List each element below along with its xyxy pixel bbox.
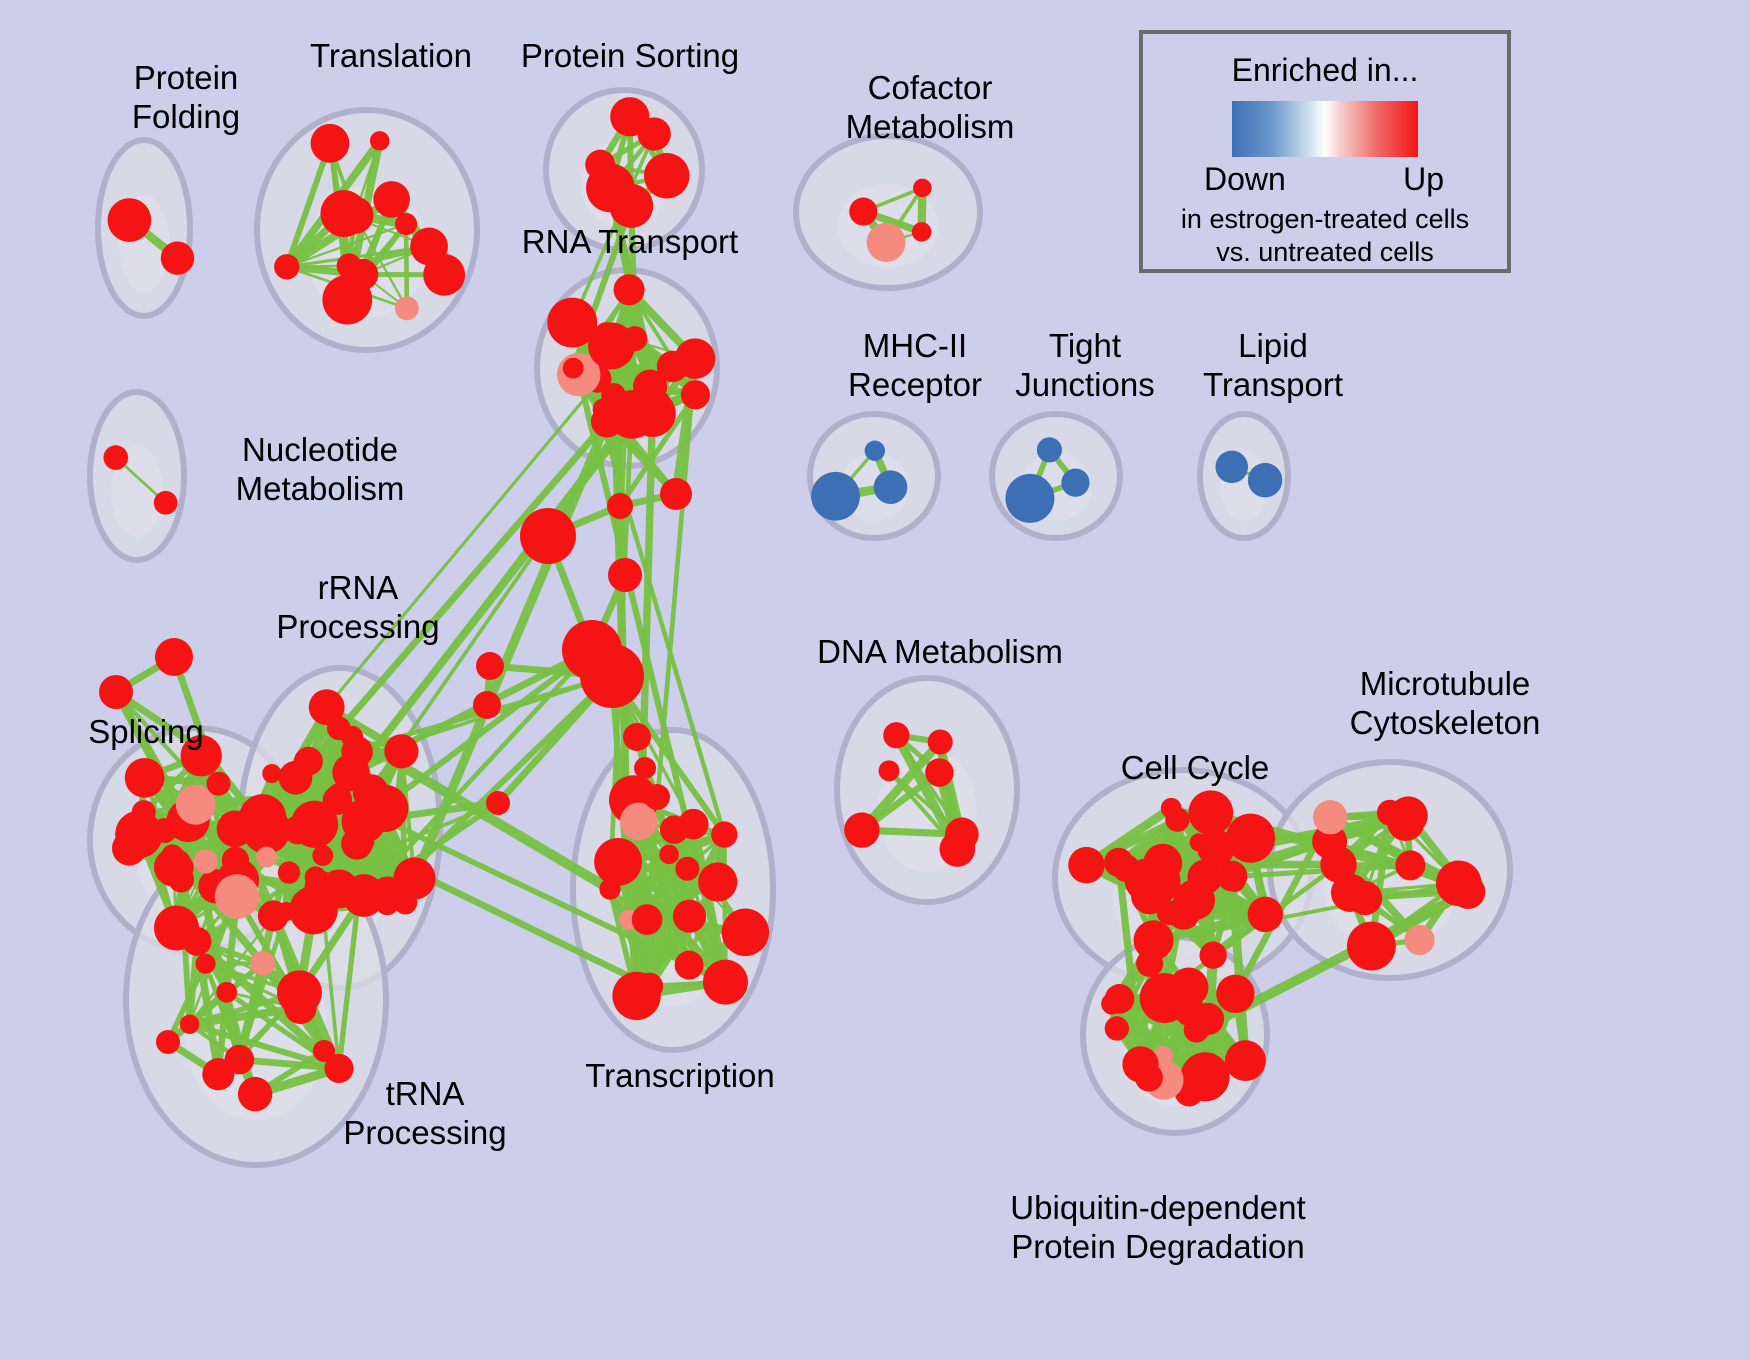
network-node[interactable] bbox=[476, 652, 504, 680]
network-node[interactable] bbox=[156, 1030, 180, 1054]
network-node[interactable] bbox=[638, 117, 671, 150]
network-node[interactable] bbox=[644, 153, 690, 199]
network-node[interactable] bbox=[580, 644, 644, 708]
network-node[interactable] bbox=[1169, 968, 1209, 1008]
network-node[interactable] bbox=[1146, 845, 1170, 869]
network-node[interactable] bbox=[324, 1054, 353, 1083]
network-node[interactable] bbox=[1313, 800, 1347, 834]
network-node[interactable] bbox=[337, 253, 362, 278]
network-node[interactable] bbox=[1387, 804, 1424, 841]
network-node[interactable] bbox=[1404, 925, 1434, 955]
network-node[interactable] bbox=[195, 741, 221, 767]
network-node[interactable] bbox=[711, 821, 737, 847]
network-node[interactable] bbox=[913, 179, 932, 198]
legend-colorbar bbox=[1232, 101, 1418, 157]
legend-box: Enriched in... Down Up in estrogen-treat… bbox=[1139, 30, 1511, 273]
network-node[interactable] bbox=[238, 1077, 272, 1111]
network-node[interactable] bbox=[657, 351, 689, 383]
network-edge-bridge bbox=[339, 387, 650, 795]
network-node[interactable] bbox=[722, 909, 769, 956]
network-node[interactable] bbox=[194, 849, 218, 873]
network-node[interactable] bbox=[274, 254, 299, 279]
network-node[interactable] bbox=[311, 124, 350, 163]
network-node[interactable] bbox=[659, 845, 679, 865]
network-node[interactable] bbox=[1061, 469, 1089, 497]
network-node[interactable] bbox=[384, 734, 418, 768]
network-node[interactable] bbox=[289, 886, 337, 934]
network-node[interactable] bbox=[1248, 897, 1283, 932]
network-node[interactable] bbox=[183, 927, 212, 956]
network-node[interactable] bbox=[1136, 950, 1163, 977]
network-node[interactable] bbox=[1068, 847, 1104, 883]
legend-endpoints: Down Up bbox=[1210, 161, 1440, 201]
network-node[interactable] bbox=[1005, 474, 1054, 523]
network-node[interactable] bbox=[1101, 993, 1122, 1014]
network-node[interactable] bbox=[206, 772, 230, 796]
network-node[interactable] bbox=[675, 857, 699, 881]
network-node[interactable] bbox=[681, 380, 710, 409]
legend-title: Enriched in... bbox=[1143, 52, 1507, 89]
network-node[interactable] bbox=[322, 275, 372, 325]
network-node[interactable] bbox=[99, 675, 133, 709]
network-node[interactable] bbox=[928, 729, 953, 754]
network-node[interactable] bbox=[593, 398, 614, 419]
network-node[interactable] bbox=[563, 358, 584, 379]
network-node[interactable] bbox=[1122, 1046, 1158, 1082]
network-node[interactable] bbox=[473, 691, 501, 719]
network-node[interactable] bbox=[256, 847, 277, 868]
network-node[interactable] bbox=[634, 757, 656, 779]
network-node[interactable] bbox=[132, 800, 156, 824]
network-node[interactable] bbox=[1248, 463, 1282, 497]
network-node[interactable] bbox=[305, 866, 327, 888]
network-node[interactable] bbox=[155, 638, 193, 676]
network-node[interactable] bbox=[594, 838, 642, 886]
network-node[interactable] bbox=[865, 441, 885, 461]
network-node[interactable] bbox=[1104, 848, 1133, 877]
network-node[interactable] bbox=[849, 198, 877, 226]
legend-down-label: Down bbox=[1204, 161, 1286, 198]
network-node[interactable] bbox=[278, 861, 300, 883]
network-node[interactable] bbox=[370, 131, 389, 150]
network-node[interactable] bbox=[1199, 942, 1226, 969]
network-node[interactable] bbox=[1165, 807, 1189, 831]
network-node[interactable] bbox=[811, 472, 860, 521]
network-node[interactable] bbox=[1215, 451, 1248, 484]
network-node[interactable] bbox=[222, 847, 249, 874]
network-node[interactable] bbox=[250, 951, 275, 976]
network-node[interactable] bbox=[161, 241, 194, 274]
network-node[interactable] bbox=[1451, 875, 1485, 909]
network-node[interactable] bbox=[1184, 1017, 1210, 1043]
network-node[interactable] bbox=[312, 845, 333, 866]
network-node[interactable] bbox=[336, 196, 373, 233]
network-node[interactable] bbox=[215, 874, 259, 918]
network-node[interactable] bbox=[612, 972, 660, 1020]
network-node[interactable] bbox=[673, 900, 706, 933]
network-node[interactable] bbox=[154, 491, 178, 515]
network-node[interactable] bbox=[879, 760, 900, 781]
network-node[interactable] bbox=[262, 764, 281, 783]
network-node[interactable] bbox=[341, 828, 373, 860]
legend-up-label: Up bbox=[1403, 161, 1444, 198]
network-node[interactable] bbox=[225, 1045, 255, 1075]
network-node[interactable] bbox=[940, 831, 976, 867]
network-node[interactable] bbox=[239, 794, 287, 842]
network-node[interactable] bbox=[1216, 975, 1254, 1013]
network-node[interactable] bbox=[103, 445, 128, 470]
network-node[interactable] bbox=[361, 785, 408, 832]
network-node[interactable] bbox=[867, 223, 906, 262]
network-node[interactable] bbox=[912, 222, 932, 242]
network-node[interactable] bbox=[216, 982, 237, 1003]
network-node[interactable] bbox=[108, 198, 152, 242]
network-node[interactable] bbox=[180, 1015, 199, 1034]
network-node[interactable] bbox=[1395, 850, 1425, 880]
network-node[interactable] bbox=[883, 722, 909, 748]
network-node[interactable] bbox=[607, 493, 633, 519]
network-node[interactable] bbox=[393, 857, 435, 899]
network-node[interactable] bbox=[358, 883, 383, 908]
network-node[interactable] bbox=[1105, 1016, 1129, 1040]
legend-subtitle: in estrogen-treated cells vs. untreated … bbox=[1143, 203, 1507, 269]
network-node[interactable] bbox=[258, 901, 289, 932]
network-node[interactable] bbox=[284, 992, 316, 1024]
network-node[interactable] bbox=[125, 758, 165, 798]
network-node[interactable] bbox=[675, 951, 704, 980]
network-node[interactable] bbox=[161, 844, 184, 867]
network-node[interactable] bbox=[1225, 1040, 1266, 1081]
network-node[interactable] bbox=[599, 878, 620, 899]
network-node[interactable] bbox=[1224, 870, 1246, 892]
network-node[interactable] bbox=[1188, 790, 1233, 835]
network-node[interactable] bbox=[1037, 437, 1062, 462]
network-node[interactable] bbox=[622, 326, 647, 351]
network-node[interactable] bbox=[925, 758, 954, 787]
network-node[interactable] bbox=[196, 954, 216, 974]
network-node[interactable] bbox=[660, 478, 692, 510]
network-node[interactable] bbox=[486, 791, 510, 815]
network-node[interactable] bbox=[1238, 837, 1258, 857]
network-node[interactable] bbox=[623, 723, 651, 751]
network-node[interactable] bbox=[844, 812, 879, 847]
enrichment-map-figure: Protein FoldingTranslationProtein Sortin… bbox=[0, 0, 1750, 1360]
network-node[interactable] bbox=[698, 862, 737, 901]
network-node[interactable] bbox=[373, 181, 410, 218]
network-node[interactable] bbox=[629, 390, 676, 437]
network-node[interactable] bbox=[608, 558, 642, 592]
network-node[interactable] bbox=[874, 470, 908, 504]
network-node[interactable] bbox=[395, 296, 419, 320]
network-node[interactable] bbox=[410, 228, 448, 266]
network-node[interactable] bbox=[614, 274, 645, 305]
network-node[interactable] bbox=[703, 960, 748, 1005]
network-node[interactable] bbox=[1347, 922, 1396, 971]
network-node[interactable] bbox=[644, 784, 670, 810]
network-node[interactable] bbox=[678, 809, 709, 840]
network-node[interactable] bbox=[395, 213, 417, 235]
network-node[interactable] bbox=[520, 508, 576, 564]
network-node[interactable] bbox=[585, 150, 615, 180]
network-node[interactable] bbox=[279, 761, 313, 795]
network-node[interactable] bbox=[632, 904, 663, 935]
